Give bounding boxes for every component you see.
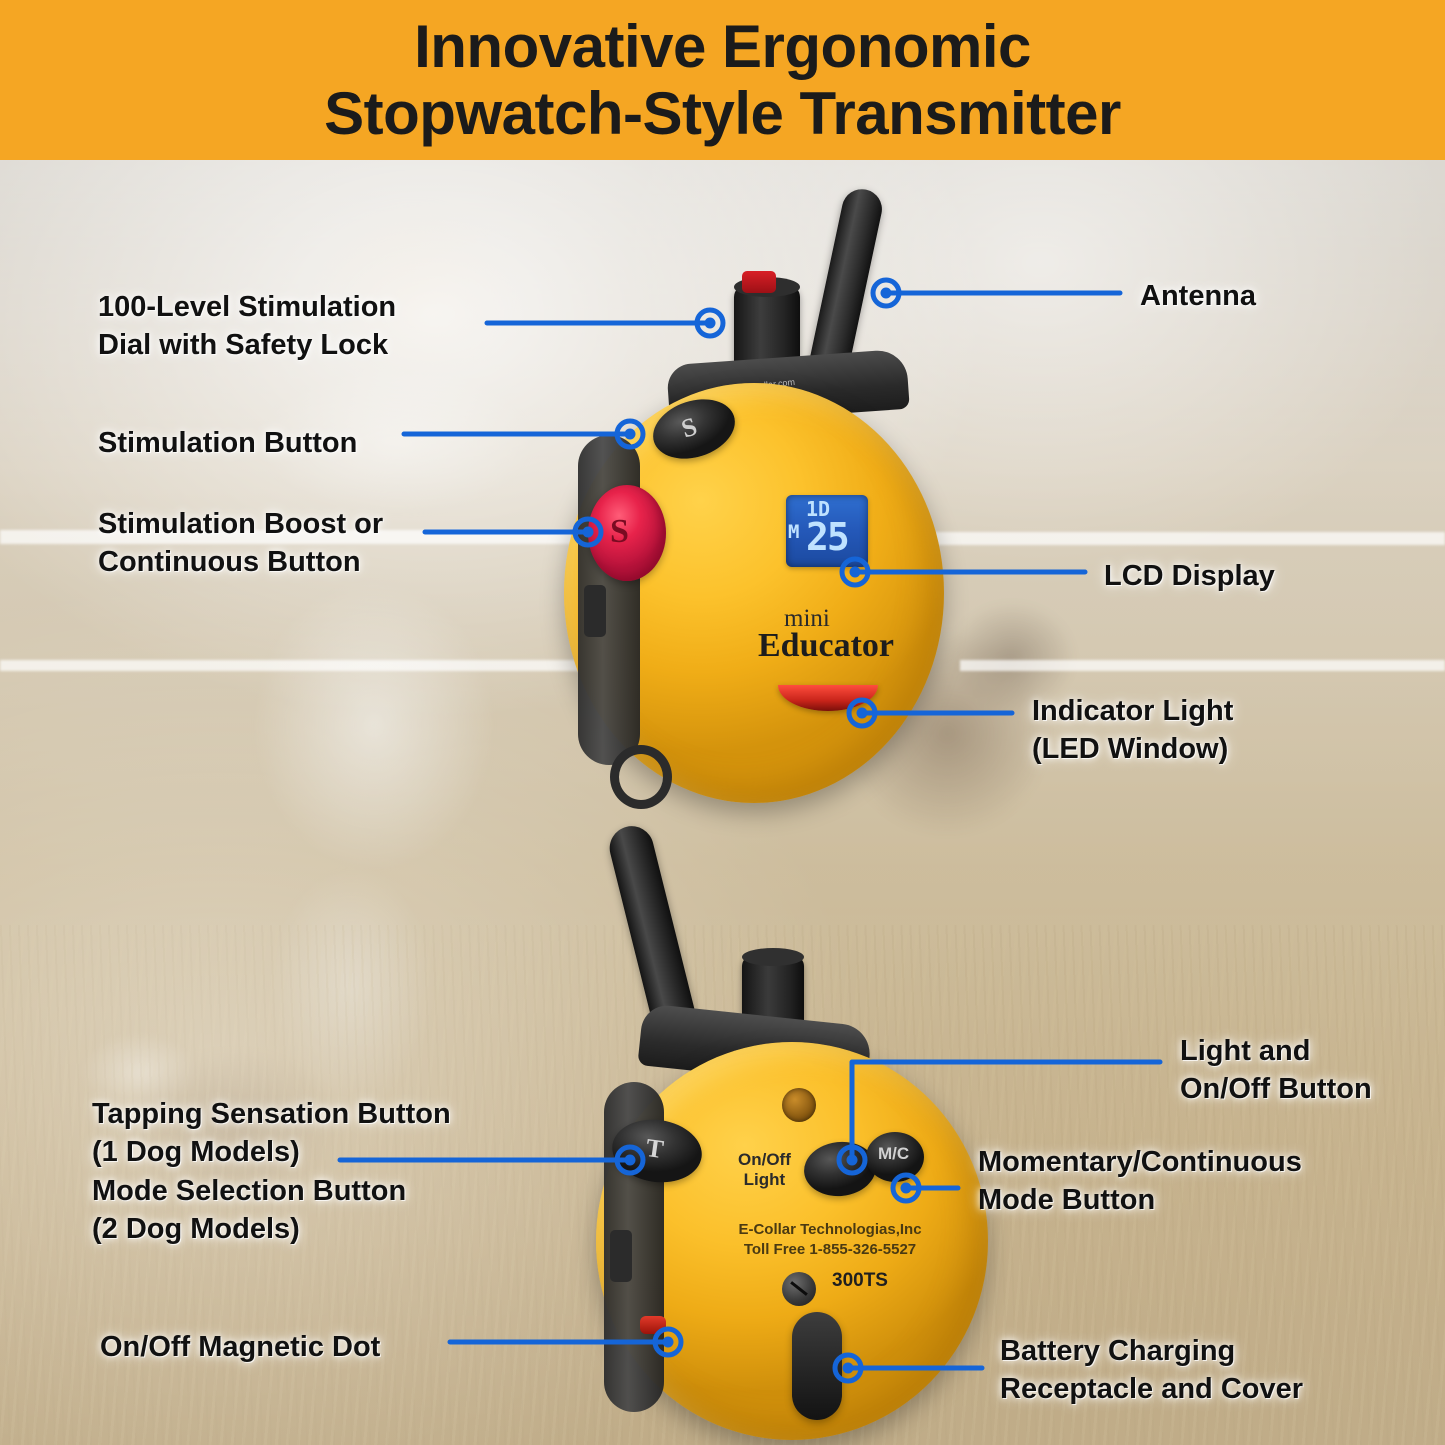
callout-label-light-onoff-button: Light and On/Off Button: [1180, 1032, 1372, 1109]
page-title: Innovative Ergonomic Stopwatch-Style Tra…: [294, 13, 1151, 147]
callout-label-antenna: Antenna: [1140, 277, 1256, 315]
stimulation-boost-button-glyph: S: [610, 513, 629, 551]
safety-lock[interactable]: [742, 271, 776, 293]
callout-label-momentary-continuous-button: Momentary/Continuous Mode Button: [978, 1143, 1302, 1220]
brand-educator-label: Educator: [758, 627, 894, 665]
stimulation-dial-cap[interactable]: [742, 948, 804, 966]
lcd-level-value: 25: [806, 515, 848, 559]
lcd-display: 1D M 25: [786, 495, 868, 567]
infographic-page: Innovative Ergonomic Stopwatch-Style Tra…: [0, 0, 1445, 1445]
callout-label-indicator-light: Indicator Light (LED Window): [1032, 692, 1233, 769]
battery-charging-cover[interactable]: [792, 1312, 842, 1420]
onoff-light-label: On/Off Light: [738, 1150, 791, 1189]
onoff-magnetic-dot[interactable]: [640, 1316, 666, 1334]
callout-label-stimulation-boost-button: Stimulation Boost or Continuous Button: [98, 505, 383, 582]
housing-imprint: E-Collar Technologias,Inc Toll Free 1-85…: [710, 1220, 950, 1261]
transmitter-front-view: www.ecollar.com S S 1D M 25 mini Educato…: [548, 185, 968, 815]
lcd-mode-letter: M: [788, 521, 799, 543]
charging-contact: [782, 1088, 816, 1122]
callout-label-stimulation-button: Stimulation Button: [98, 424, 357, 462]
side-clip: [584, 585, 606, 637]
momentary-continuous-button-glyph: M/C: [878, 1144, 909, 1164]
lanyard-loop: [610, 745, 672, 809]
housing-screw: [782, 1272, 816, 1306]
header-banner: Innovative Ergonomic Stopwatch-Style Tra…: [0, 0, 1445, 160]
callout-label-onoff-magnetic-dot: On/Off Magnetic Dot: [100, 1328, 380, 1366]
callout-label-battery-charging-receptacle: Battery Charging Receptacle and Cover: [1000, 1332, 1303, 1409]
callout-label-tapping-sensation-button: Tapping Sensation Button (1 Dog Models) …: [92, 1095, 451, 1248]
transmitter-back-view: T On/Off Light M/C E-Collar Technologias…: [560, 820, 1020, 1440]
side-clip: [610, 1230, 632, 1282]
model-number-label: 300TS: [832, 1270, 888, 1292]
callout-label-stimulation-dial: 100-Level Stimulation Dial with Safety L…: [98, 288, 396, 365]
callout-label-lcd-display: LCD Display: [1104, 557, 1275, 595]
